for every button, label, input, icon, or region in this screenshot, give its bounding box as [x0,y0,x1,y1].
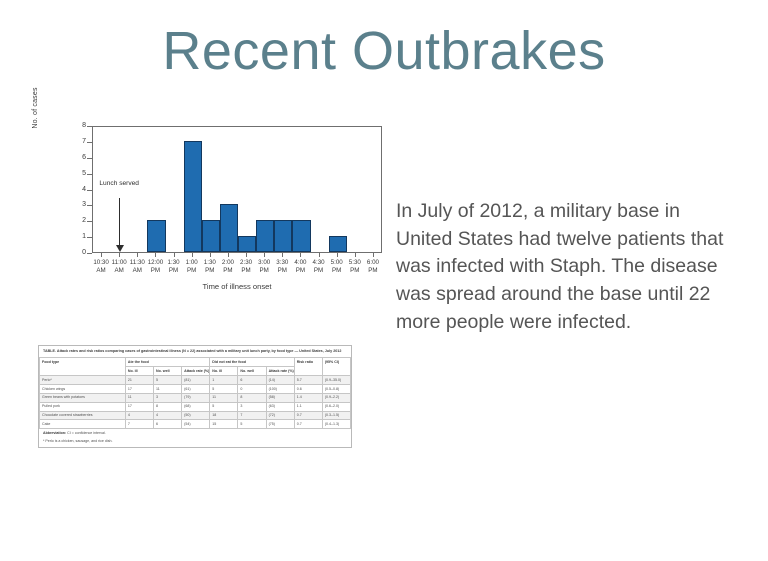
attack-rate-table-figure: TABLE. Attack rates and risk ratios comp… [38,345,352,448]
chart-y-tick-mark [87,126,92,127]
table-cell-rr: 0.6 [294,384,322,393]
chart-x-tick-mark [174,253,175,257]
chart-x-tick-mark [373,253,374,257]
table-row: Cake76(54)155(75)0.7(0.4–1.3) [40,420,351,429]
table-cell-ate-well: 5 [154,376,182,385]
table-footnote-abbreviation: Abbreviation: CI = confidence interval. [39,429,351,436]
table-cell-not-well: 3 [238,402,266,411]
table-cell-not-rate: (63) [266,402,294,411]
table-cell-ate-well: 11 [154,384,182,393]
table-cell-rr: 0.7 [294,411,322,420]
table-cell-ci: (0.9–35.0) [322,376,350,385]
slide-body-text: In July of 2012, a military base in Unit… [396,198,726,336]
table-cell-ci: (0.5–0.8) [322,384,350,393]
chart-y-tick-mark [87,237,92,238]
chart-y-axis-title: No. of cases [32,68,39,148]
table-cell-not-ill: 15 [210,420,238,429]
table-row: Chocolate covered strawberries44(50)187(… [40,411,351,420]
table-cell-ate-well: 3 [154,393,182,402]
table-cell-not-ill: 1 [210,376,238,385]
table-group-header-cell: Did not eat the food [210,358,294,367]
table-cell-not-rate: (14) [266,376,294,385]
chart-x-tick-label: 6:00PM [356,259,390,275]
table-row: Pulled pork178(68)53(63)1.1(0.6–2.0) [40,402,351,411]
histogram-bar [274,220,292,252]
chart-y-tick-mark [87,253,92,254]
table-cell-ate-rate: (61) [182,384,210,393]
table-cell-rr: 5.7 [294,376,322,385]
table-cell-ate-rate: (81) [182,376,210,385]
table-cell-ci: (0.4–1.3) [322,420,350,429]
table-group-header-cell: Ate the food [125,358,209,367]
chart-y-tick-label: 8 [72,122,86,129]
lunch-served-arrow-shaft [119,198,120,248]
attack-rate-table: Food typeAte the foodDid not eat the foo… [39,357,351,429]
table-row: Chicken wings1711(61)50(100)0.6(0.5–0.8) [40,384,351,393]
chart-y-tick-label: 5 [72,170,86,177]
table-cell-food: Perlo* [40,376,126,385]
chart-x-axis-title: Time of illness onset [92,282,382,291]
chart-x-tick-mark [282,253,283,257]
table-cell-ate-ill: 7 [125,420,153,429]
table-cell-not-rate: (100) [266,384,294,393]
table-cell-not-well: 5 [238,420,266,429]
chart-y-tick-label: 3 [72,201,86,208]
chart-x-tick-mark [192,253,193,257]
chart-y-tick-label: 1 [72,233,86,240]
chart-x-tick-mark [210,253,211,257]
histogram-bar [202,220,220,252]
table-group-header-cell: Risk ratio [294,358,322,376]
table-row: Perlo*215(81)16(14)5.7(0.9–35.0) [40,376,351,385]
table-cell-food: Green beans with potatoes [40,393,126,402]
table-cell-food: Pulled pork [40,402,126,411]
table-sub-header-cell: No. ill [125,367,153,376]
chart-y-tick-mark [87,221,92,222]
table-cell-ate-rate: (79) [182,393,210,402]
chart-y-tick-label: 0 [72,249,86,256]
chart-y-tick-mark [87,174,92,175]
chart-x-tick-mark [264,253,265,257]
chart-y-tick-label: 2 [72,217,86,224]
table-cell-not-rate: (58) [266,393,294,402]
down-arrow-icon [116,245,124,252]
table-footnote-star: * Perlo is a chicken, sausage, and rice … [39,437,351,447]
chart-y-tick-mark [87,142,92,143]
histogram-bar [329,236,347,252]
table-cell-ate-rate: (50) [182,411,210,420]
chart-x-tick-mark [355,253,356,257]
table-cell-ate-ill: 11 [125,393,153,402]
histogram-bar [238,236,256,252]
table-cell-ate-rate: (54) [182,420,210,429]
table-group-header-row: Food typeAte the foodDid not eat the foo… [40,358,351,367]
table-row: Green beans with potatoes113(79)118(58)1… [40,393,351,402]
table-cell-food: Chocolate covered strawberries [40,411,126,420]
table-cell-food: Cake [40,420,126,429]
footnote-abbrev-text: CI = confidence interval. [66,431,106,435]
chart-y-tick-mark [87,158,92,159]
table-cell-rr: 1.1 [294,402,322,411]
table-cell-not-well: 7 [238,411,266,420]
table-sub-header-cell: No. well [238,367,266,376]
chart-x-tick-mark [228,253,229,257]
table-cell-ate-well: 4 [154,411,182,420]
chart-y-tick-label: 7 [72,138,86,145]
table-cell-ci: (0.6–2.0) [322,402,350,411]
chart-y-tick-label: 4 [72,186,86,193]
table-sub-header-cell: Attack rate (%) [182,367,210,376]
table-cell-ate-rate: (68) [182,402,210,411]
chart-y-tick-mark [87,205,92,206]
histogram-bar [147,220,165,252]
chart-plot-area [92,126,382,253]
table-sub-header-cell: No. ill [210,367,238,376]
table-cell-not-well: 6 [238,376,266,385]
table-cell-not-ill: 5 [210,402,238,411]
chart-x-tick-mark [119,253,120,257]
table-cell-not-rate: (75) [266,420,294,429]
chart-x-tick-mark [155,253,156,257]
chart-x-tick-mark [337,253,338,257]
table-cell-ate-ill: 21 [125,376,153,385]
table-cell-not-ill: 18 [210,411,238,420]
table-cell-not-well: 0 [238,384,266,393]
table-cell-ci: (0.9–2.2) [322,393,350,402]
table-cell-not-rate: (72) [266,411,294,420]
table-sub-header-cell: No. well [154,367,182,376]
chart-x-tick-mark [101,253,102,257]
table-cell-not-well: 8 [238,393,266,402]
table-cell-ate-well: 6 [154,420,182,429]
histogram-bar [256,220,274,252]
table-cell-ci: (0.3–1.5) [322,411,350,420]
table-cell-ate-ill: 17 [125,384,153,393]
table-cell-rr: 1.4 [294,393,322,402]
lunch-served-annotation: Lunch served [97,180,141,188]
histogram-bar [220,204,238,252]
footnote-abbrev-label: Abbreviation: [43,431,66,435]
table-cell-food: Chicken wings [40,384,126,393]
table-cell-not-ill: 11 [210,393,238,402]
table-cell-ate-ill: 17 [125,402,153,411]
table-caption: TABLE. Attack rates and risk ratios comp… [39,346,351,357]
chart-y-tick-mark [87,190,92,191]
chart-x-tick-mark [319,253,320,257]
table-group-header-cell: (95% CI) [322,358,350,376]
epidemic-curve-figure: No. of cases Lunch served Time of illnes… [36,118,350,298]
chart-x-tick-mark [137,253,138,257]
chart-x-tick-mark [246,253,247,257]
table-cell-not-ill: 5 [210,384,238,393]
histogram-bar [184,141,202,252]
chart-y-tick-label: 6 [72,154,86,161]
histogram-bar [292,220,310,252]
chart-x-tick-mark [300,253,301,257]
table-cell-rr: 0.7 [294,420,322,429]
table-cell-ate-well: 8 [154,402,182,411]
table-group-header-cell: Food type [40,358,126,376]
table-sub-header-cell: Attack rate (%) [266,367,294,376]
page-title: Recent Outbrakes [0,22,768,81]
table-cell-ate-ill: 4 [125,411,153,420]
